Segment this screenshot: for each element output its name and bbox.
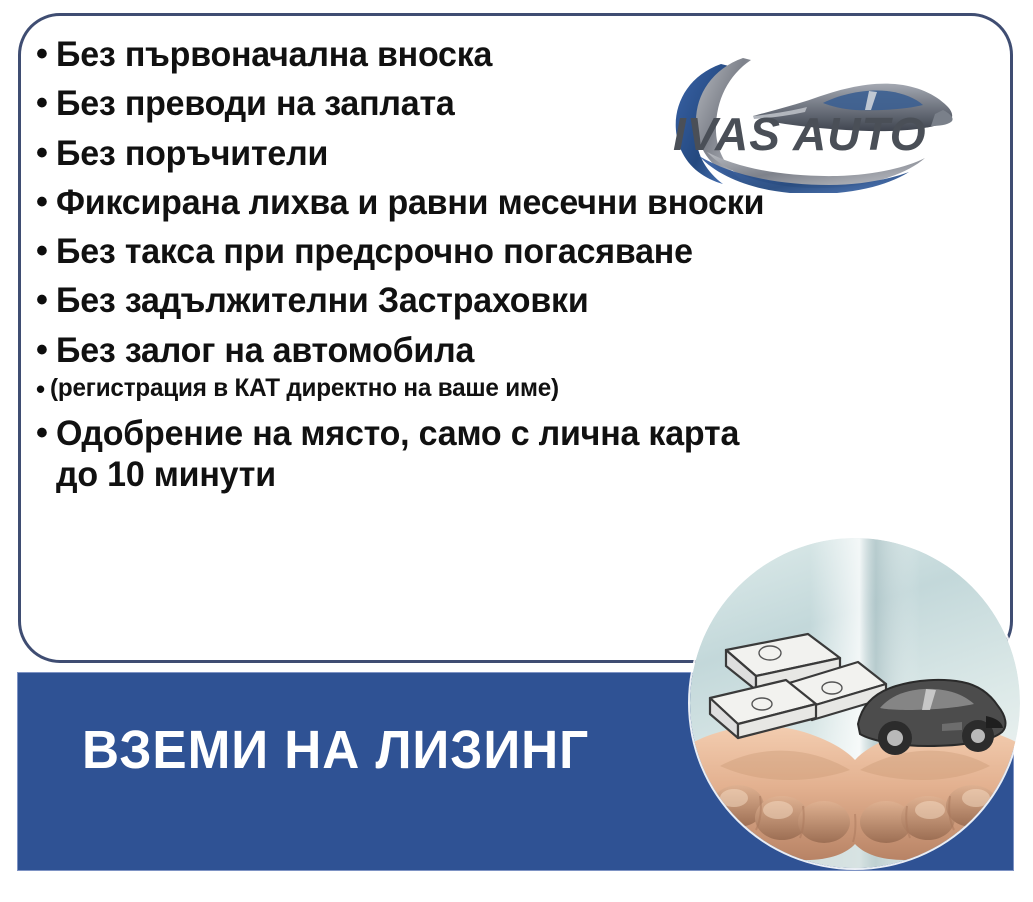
list-item: • Без задължителни Застраховки [36,280,996,321]
list-item-label: Без такса при предсрочно погасяване [56,231,968,272]
bullet-dot-icon: • [36,182,56,218]
list-item-note: • (регистрация в КАТ директно на ваше им… [36,375,996,403]
hands-holding-money-and-car-photo [690,538,1020,868]
bullet-dot-icon: • [36,375,50,402]
list-item: • Без такса при предсрочно погасяване [36,231,996,272]
list-item: • Без залог на автомобила [36,330,996,371]
bullet-dot-icon: • [36,280,56,316]
bullet-dot-icon: • [36,83,56,119]
list-item-label: Одобрение на място, само с лична карта д… [56,413,968,496]
list-item-note-label: (регистрация в КАТ директно на ваше име) [50,375,968,403]
bullet-dot-icon: • [36,330,56,366]
list-item-label: Без залог на автомобила [56,330,968,371]
list-item-label: Без задължителни Застраховки [56,280,968,321]
leasing-promo-poster: • Без първоначална вноска • Без преводи … [0,0,1033,902]
logo-wordmark: IVAS AUTO [673,108,927,160]
cta-banner-headline: ВЗЕМИ НА ЛИЗИНГ [82,723,589,777]
bullet-dot-icon: • [36,231,56,267]
ivas-auto-logo: IVAS AUTO [655,48,965,193]
bullet-dot-icon: • [36,133,56,169]
list-item: • Одобрение на място, само с лична карта… [36,413,996,496]
bullet-dot-icon: • [36,34,56,70]
bullet-dot-icon: • [36,413,56,449]
